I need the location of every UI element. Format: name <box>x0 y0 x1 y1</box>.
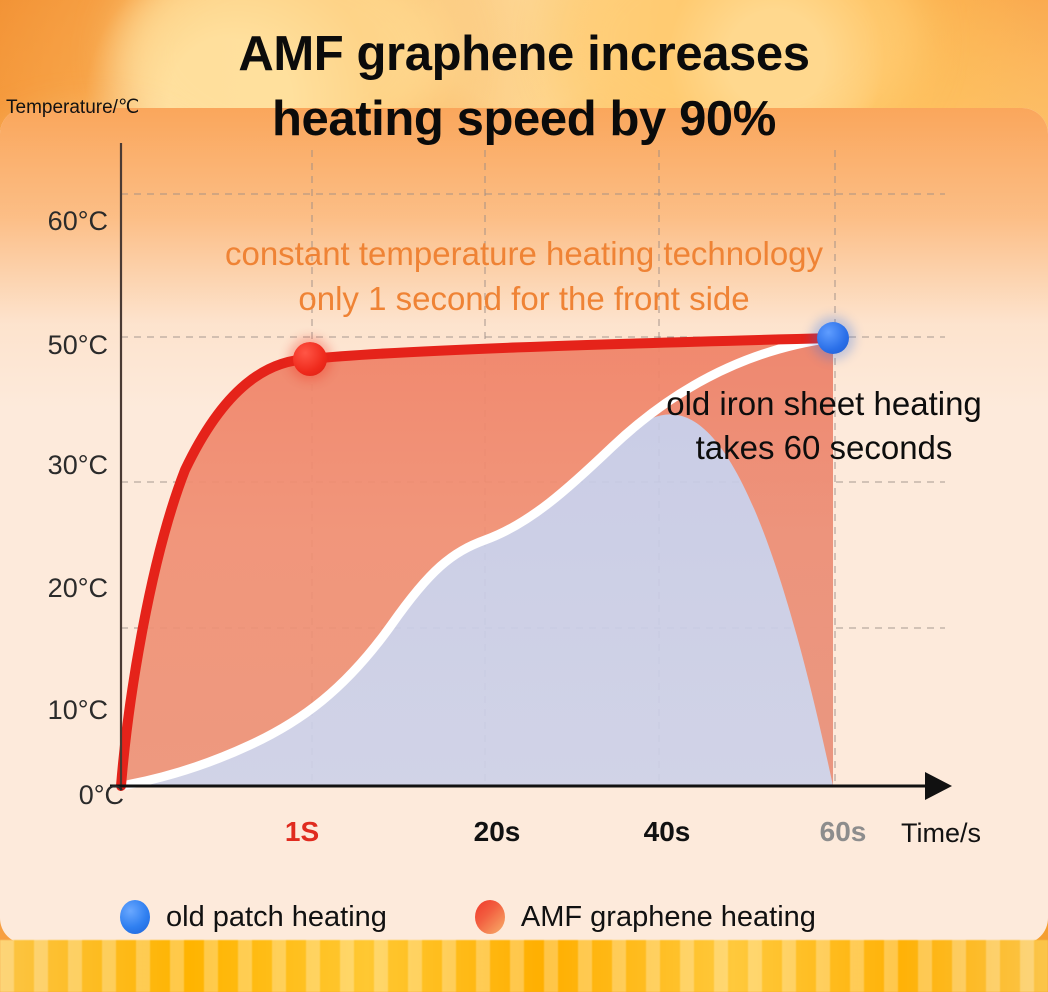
chart-legend: old patch heating AMF graphene heating <box>120 900 904 934</box>
old-patch-end-marker <box>817 322 849 354</box>
blue-circle-icon <box>120 900 150 934</box>
annotation-graphene-line-1: constant temperature heating technology <box>0 232 1048 277</box>
y-tick-label-50: 50°C <box>8 330 108 361</box>
y-tick-label-30: 30°C <box>8 450 108 481</box>
infographic-root: AMF graphene increases heating speed by … <box>0 0 1048 992</box>
legend-item-graphene: AMF graphene heating <box>475 900 816 934</box>
y-tick-label-10: 10°C <box>8 695 108 726</box>
annotation-old-patch: old iron sheet heating takes 60 seconds <box>600 382 1048 470</box>
y-tick-label-20: 20°C <box>8 573 108 604</box>
x-tick-label-60s: 60s <box>783 816 903 848</box>
x-axis-title: Time/s <box>901 818 981 849</box>
annotation-old-patch-line-1: old iron sheet heating <box>600 382 1048 426</box>
legend-label-graphene: AMF graphene heating <box>521 901 816 934</box>
x-tick-label-40s: 40s <box>607 816 727 848</box>
legend-label-old-patch: old patch heating <box>166 901 387 934</box>
red-gradient-circle-icon <box>475 900 505 934</box>
legend-item-old-patch: old patch heating <box>120 900 387 934</box>
x-tick-label-1s: 1S <box>242 816 362 848</box>
x-tick-label-20s: 20s <box>437 816 557 848</box>
x-axis-arrow-icon <box>925 772 952 800</box>
annotation-graphene: constant temperature heating technology … <box>0 232 1048 321</box>
y-tick-label-0: 0°C <box>24 780 124 811</box>
graphene-peak-marker <box>293 342 327 376</box>
y-axis-title: Temperature/℃ <box>6 96 139 119</box>
annotation-old-patch-line-2: takes 60 seconds <box>600 426 1048 470</box>
annotation-graphene-line-2: only 1 second for the front side <box>0 277 1048 322</box>
